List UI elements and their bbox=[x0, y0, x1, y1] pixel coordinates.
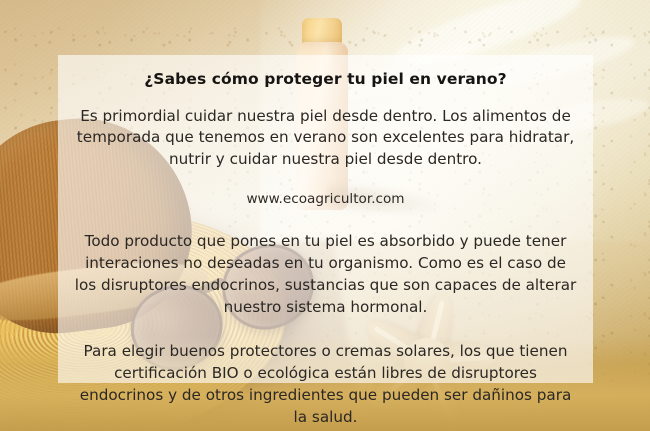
infographic-card: ¿Sabes cómo proteger tu piel en verano? … bbox=[0, 0, 650, 431]
paragraph-absorption: Todo producto que pones en tu piel es ab… bbox=[72, 231, 579, 319]
paragraph-bio-certification: Para elegir buenos protectores o cremas … bbox=[72, 341, 579, 429]
paragraph-intro: Es primordial cuidar nuestra piel desde … bbox=[72, 106, 579, 172]
headline: ¿Sabes cómo proteger tu piel en verano? bbox=[72, 70, 579, 89]
website-url: www.ecoagricultor.com bbox=[72, 190, 579, 209]
text-overlay-panel: ¿Sabes cómo proteger tu piel en verano? … bbox=[58, 55, 593, 383]
